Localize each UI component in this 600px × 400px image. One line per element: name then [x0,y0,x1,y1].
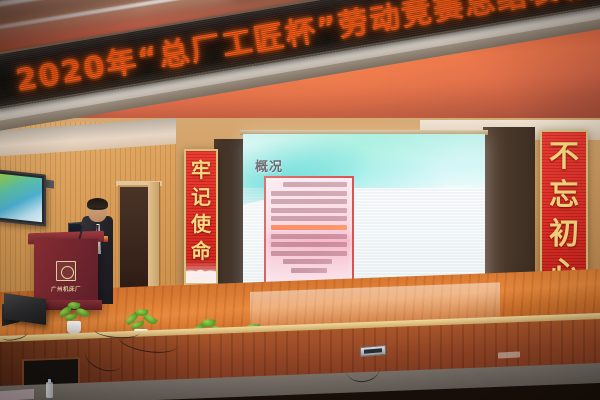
slide-text-line [271,251,347,256]
slide-text-line [271,208,347,213]
slide-text-line [271,216,347,221]
slide-text-line [271,191,347,196]
floor-marker-tag [498,351,520,358]
banner-right-char-1: 不 [549,138,579,176]
side-monitor-screen [0,174,42,222]
slide-title: 概况 [255,156,283,175]
podium-logo-text: 广州机床厂 [37,284,96,292]
podium-emblem-icon [56,261,76,281]
banner-left-char-3: 使 [191,211,211,237]
slide-text-line [271,234,347,239]
banner-cloud-pattern [186,261,216,283]
slide-body-textbox [264,176,354,294]
leaf [75,306,90,319]
banner-left-char-1: 牢 [191,157,211,183]
water-bottle [46,382,53,398]
potted-plant [57,304,91,334]
paper-sheet [0,389,34,400]
doorway-opening [118,185,152,303]
slide-text-line [271,199,347,204]
slide-text-line [291,268,327,273]
side-monitor [0,169,46,226]
banner-left-motto: 牢 记 使 命 [184,149,218,285]
banner-right-char-2: 忘 [549,177,579,215]
slide-text-line-highlighted [271,225,347,230]
slide-text-line [283,182,347,187]
banner-left-char-2: 记 [191,184,211,210]
slide-text-line [283,259,332,264]
slide-text-line [271,242,347,247]
leaf [143,313,158,327]
conference-hall-photo: 概况 牢 记 使 命 不 忘 初 心 [0,0,600,400]
glasses-icon [90,208,105,211]
banner-right-char-3: 初 [549,216,579,254]
banner-left-characters: 牢 记 使 命 [186,157,216,264]
leaf [65,313,78,321]
